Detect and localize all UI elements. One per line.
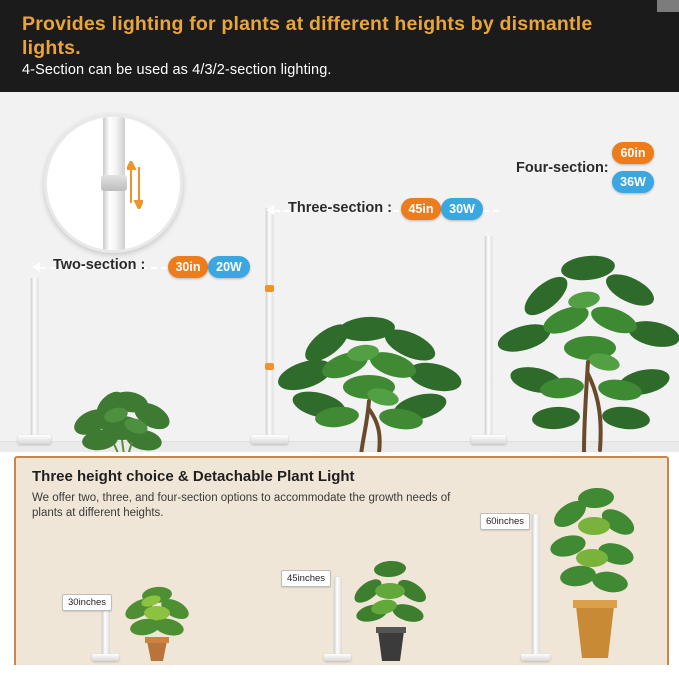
three-section-arrow-icon <box>266 205 274 215</box>
banner-corner-accent <box>657 0 679 12</box>
footer-spacer <box>0 665 679 679</box>
magnifier-circle <box>44 114 183 253</box>
product-hero-image: Two-section : 30in 20W Three-section : 4… <box>0 92 679 452</box>
lamp-top-cap <box>485 231 492 236</box>
tag-45inches: 45inches <box>281 570 331 587</box>
banner-title: Provides lighting for plants at differen… <box>22 12 622 60</box>
three-section-height-badge: 45in <box>401 198 441 220</box>
two-section-label: Two-section : <box>53 257 145 273</box>
lamp-pole <box>266 207 273 440</box>
lamp-pole <box>532 514 539 657</box>
banner-subtitle: 4-Section can be used as 4/3/2-section l… <box>22 62 642 78</box>
plant-medium <box>275 305 465 452</box>
closeup-connector-joint <box>101 175 127 191</box>
lamp-pole <box>334 577 341 657</box>
tag-60inches: 60inches <box>480 513 530 530</box>
plant-small <box>70 382 180 452</box>
four-section-height-badge: 60in <box>612 142 654 164</box>
header-banner: Provides lighting for plants at differen… <box>0 0 679 92</box>
three-section-power-badge: 30W <box>441 198 483 220</box>
lamp-base <box>18 435 51 444</box>
plant-large <box>496 242 679 452</box>
lamp-base <box>92 654 119 661</box>
two-section-arrow-icon <box>32 262 40 272</box>
panel-plant-45in <box>350 551 430 663</box>
lamp-joint <box>265 285 274 292</box>
lamp-base <box>324 654 351 661</box>
up-down-arrow-icon <box>127 161 143 209</box>
four-section-label: Four-section: <box>516 160 609 176</box>
panel-title: Three height choice & Detachable Plant L… <box>32 468 355 485</box>
panel-plant-60in <box>544 480 640 662</box>
feature-panel: Three height choice & Detachable Plant L… <box>14 456 669 669</box>
lamp-top-cap <box>31 273 38 278</box>
two-section-power-badge: 20W <box>208 256 250 278</box>
tag-30inches: 30inches <box>62 594 112 611</box>
two-section-height-badge: 30in <box>168 256 208 278</box>
four-section-power-badge: 36W <box>612 171 654 193</box>
three-section-label: Three-section : <box>288 200 392 216</box>
lamp-pole <box>31 277 38 440</box>
panel-plant-30in <box>121 579 193 663</box>
panel-subtitle: We offer two, three, and four-section op… <box>32 491 452 521</box>
lamp-joint <box>265 363 274 370</box>
lamp-pole <box>485 235 492 440</box>
